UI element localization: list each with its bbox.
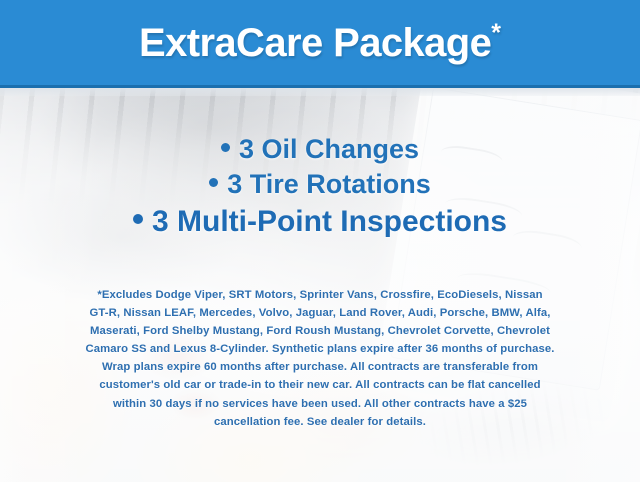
benefits-list: 3 Oil Changes 3 Tire Rotations 3 Multi-P… [0, 132, 640, 241]
header-underline-divider [0, 88, 640, 96]
benefit-item-multi-point-inspections: 3 Multi-Point Inspections [0, 202, 640, 241]
bullet-dot-icon [221, 143, 230, 152]
disclaimer-line: customer's old car or trade-in to their … [20, 376, 620, 394]
disclaimer-line: GT-R, Nissan LEAF, Mercedes, Volvo, Jagu… [20, 304, 620, 322]
bullet-dot-icon [209, 178, 218, 187]
benefit-item-label: 3 Oil Changes [239, 134, 419, 164]
disclaimer-line: Camaro SS and Lexus 8-Cylinder. Syntheti… [20, 340, 620, 358]
disclaimer-line: *Excludes Dodge Viper, SRT Motors, Sprin… [20, 286, 620, 304]
benefit-item-label: 3 Tire Rotations [227, 169, 431, 199]
benefit-item-tire-rotations: 3 Tire Rotations [0, 167, 640, 202]
page-title: ExtraCare Package* [139, 21, 501, 65]
page-title-text: ExtraCare Package [139, 21, 491, 65]
disclaimer-line: cancellation fee. See dealer for details… [20, 413, 620, 431]
disclaimer-line: Wrap plans expire 60 months after purcha… [20, 358, 620, 376]
disclaimer-line: within 30 days if no services have been … [20, 395, 620, 413]
benefit-item-label: 3 Multi-Point Inspections [152, 205, 507, 238]
title-asterisk: * [491, 19, 501, 47]
bullet-dot-icon [133, 214, 143, 224]
disclaimer-text: *Excludes Dodge Viper, SRT Motors, Sprin… [20, 286, 620, 431]
benefit-item-oil-changes: 3 Oil Changes [0, 132, 640, 167]
disclaimer-line: Maserati, Ford Shelby Mustang, Ford Rous… [20, 322, 620, 340]
extracare-package-ad: ExtraCare Package* 3 Oil Changes 3 Tire … [0, 0, 640, 482]
header-banner: ExtraCare Package* [0, 0, 640, 88]
